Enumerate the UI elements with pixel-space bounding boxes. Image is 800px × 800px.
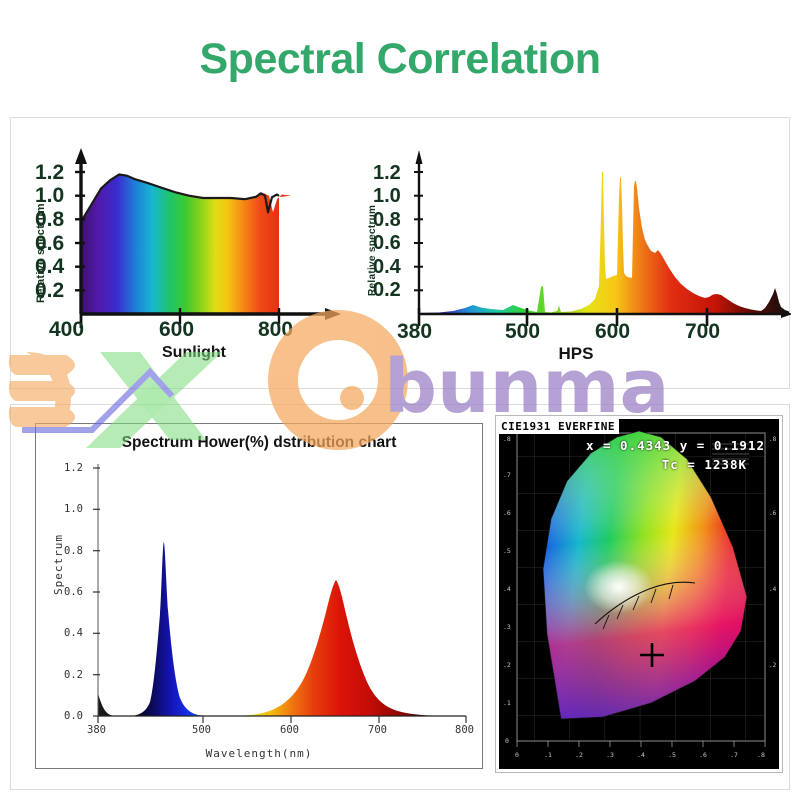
sunlight-xtick-400: 400 [49, 318, 84, 342]
svg-text:.4: .4 [637, 751, 645, 759]
spectrum-ytick-1_0: 1.0 [64, 503, 83, 515]
sunlight-ytick-1_2: 1.2 [35, 161, 64, 185]
sunlight-xtick-800: 800 [258, 318, 293, 342]
svg-text:.4: .4 [769, 586, 777, 593]
svg-text:.7: .7 [730, 751, 738, 759]
measurement-panel: Spectrum Hower(%) dstribution chart Spec… [10, 404, 790, 790]
spectrum-ytick-0_0: 0.0 [64, 710, 83, 722]
svg-text:0: 0 [515, 751, 519, 759]
spectrum-ytick-0_4: 0.4 [64, 627, 83, 639]
spectrum-ytick-1_2: 1.2 [64, 462, 83, 474]
hps-ytick-0_4: 0.4 [373, 256, 401, 279]
cie-header-label: CIE1931 EVERFINE [499, 419, 619, 434]
svg-text:.6: .6 [503, 509, 511, 517]
svg-text:0: 0 [505, 737, 509, 745]
cie1931-chromaticity-chart: 0 .1 .2 .3 .4 .5 .6 .7 .8 0 .1 .2 .3 .4 … [495, 415, 783, 773]
spectrum-distribution-title: Spectrum Hower(%) dstribution chart [36, 434, 482, 452]
svg-text:.6: .6 [699, 751, 707, 759]
cie-tc-readout: Tc = 1238K [662, 457, 747, 472]
sunlight-ytick-0_8: 0.8 [35, 208, 64, 232]
sunlight-caption: Sunlight [29, 344, 359, 362]
spectrum-xtick-600: 600 [280, 724, 299, 736]
reference-spectra-panel: Relative spectrum [10, 117, 790, 389]
spectrum-x-axis-title: Wavelength(nm) [36, 747, 482, 760]
spectrum-xtick-500: 500 [192, 724, 211, 736]
svg-text:.3: .3 [503, 623, 511, 631]
svg-text:.2: .2 [575, 751, 583, 759]
hps-ytick-0_8: 0.8 [373, 209, 401, 232]
hps-spectrum-chart: Relative spectrum [361, 136, 791, 376]
hps-xtick-600: 600 [595, 320, 630, 344]
cie-xy-readout: x = 0.4343 y = 0.1912 [586, 438, 765, 453]
spectrum-ytick-0_8: 0.8 [64, 545, 83, 557]
hps-ytick-0_2: 0.2 [373, 279, 401, 302]
svg-text:.7: .7 [503, 471, 511, 479]
sunlight-spectrum-chart: Relative spectrum [29, 136, 359, 376]
svg-text:.6: .6 [769, 510, 777, 517]
hps-ytick-1_0: 1.0 [373, 185, 401, 208]
spectrum-xtick-700: 700 [368, 724, 387, 736]
svg-text:.8: .8 [769, 436, 777, 443]
spectrum-ytick-0_6: 0.6 [64, 586, 83, 598]
svg-text:.5: .5 [503, 547, 511, 555]
svg-text:.8: .8 [503, 435, 511, 443]
cie-plot-area: 0 .1 .2 .3 .4 .5 .6 .7 .8 0 .1 .2 .3 .4 … [499, 419, 779, 769]
svg-text:.1: .1 [503, 699, 511, 707]
hps-caption: HPS [361, 344, 791, 364]
spectrum-distribution-chart: Spectrum Hower(%) dstribution chart Spec… [35, 423, 483, 769]
hps-ytick-0_6: 0.6 [373, 232, 401, 255]
page-title: Spectral Correlation [0, 0, 800, 81]
sunlight-ytick-0_6: 0.6 [35, 232, 64, 256]
spectrum-distribution-plot [36, 424, 482, 768]
svg-text:.4: .4 [503, 585, 511, 593]
spectrum-xtick-380: 380 [87, 724, 106, 736]
hps-xtick-700: 700 [685, 320, 720, 344]
svg-text:.2: .2 [769, 662, 777, 669]
svg-text:.5: .5 [668, 751, 676, 759]
sunlight-xtick-600: 600 [159, 318, 194, 342]
sunlight-ytick-0_4: 0.4 [35, 255, 64, 279]
sunlight-ytick-0_2: 0.2 [35, 279, 64, 303]
svg-text:.1: .1 [544, 751, 552, 759]
hps-ytick-1_2: 1.2 [373, 162, 401, 185]
hps-xtick-500: 500 [505, 320, 540, 344]
svg-text:.3: .3 [606, 751, 614, 759]
spectrum-xtick-800: 800 [455, 724, 474, 736]
sunlight-ytick-1_0: 1.0 [35, 184, 64, 208]
spectrum-ytick-0_2: 0.2 [64, 669, 83, 681]
svg-text:.2: .2 [503, 661, 511, 669]
hps-xtick-380: 380 [397, 320, 432, 344]
svg-text:.8: .8 [757, 751, 765, 759]
